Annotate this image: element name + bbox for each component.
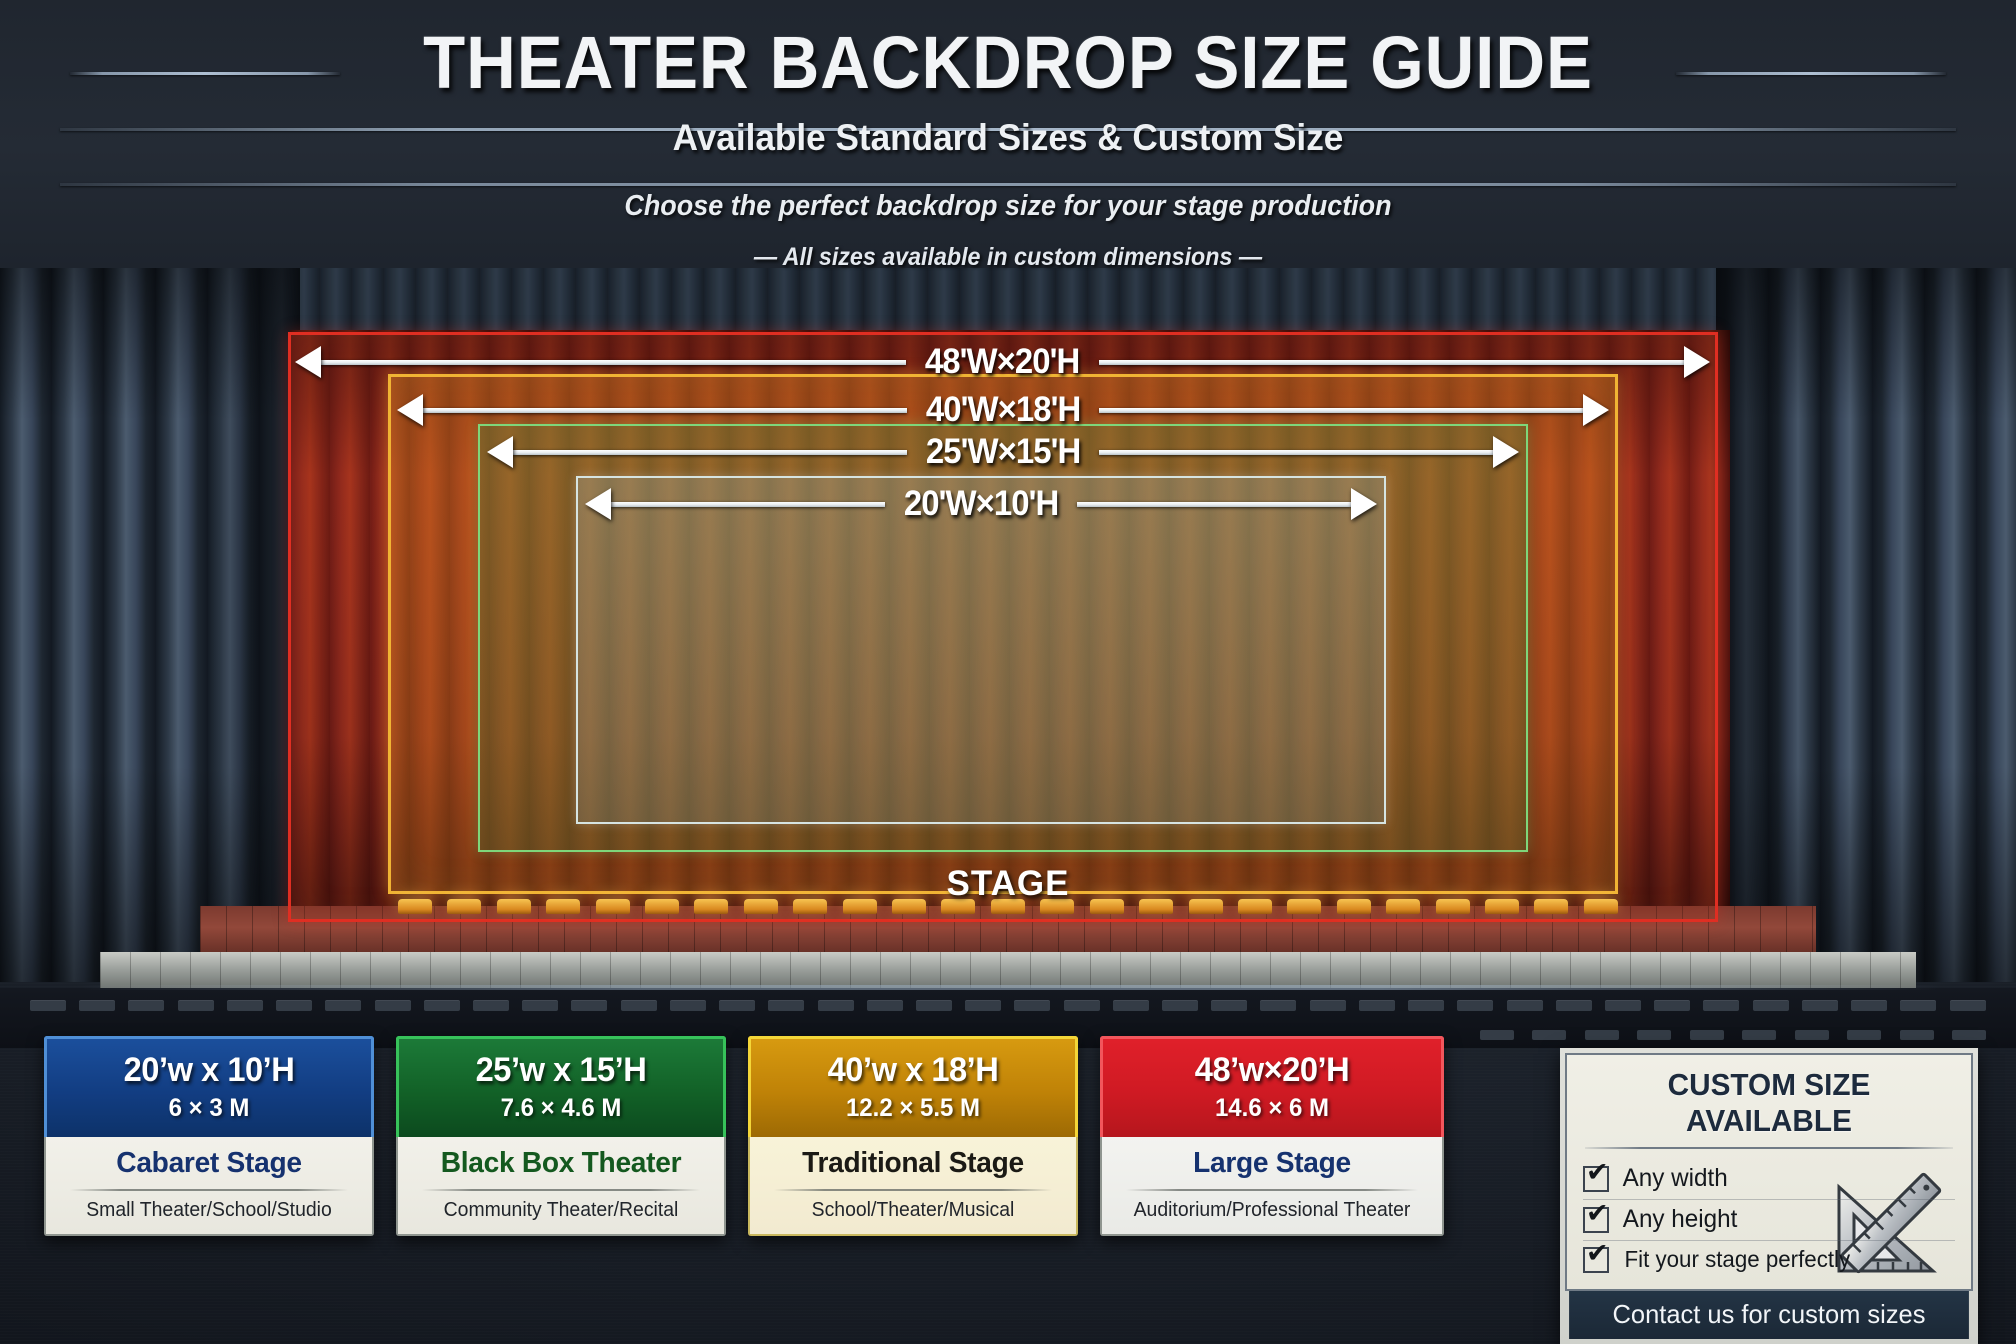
dimension-label-40x18: 40'W×18'H — [913, 390, 1094, 430]
dimension-bar-left — [611, 502, 885, 507]
card-size-metric: 6 × 3 M — [61, 1094, 357, 1123]
dimension-bar-right — [1099, 450, 1493, 455]
arrow-left-icon — [487, 436, 513, 468]
size-card-row: 20’w x 10’H 6 × 3 M Cabaret Stage Small … — [44, 1036, 1444, 1236]
custom-size-cta[interactable]: Contact us for custom sizes — [1569, 1291, 1969, 1339]
house-light-strip — [30, 1000, 1986, 1016]
card-divider — [1126, 1189, 1418, 1191]
card-use-case: Community Theater/Recital — [411, 1199, 712, 1222]
page-title: THEATER BACKDROP SIZE GUIDE — [71, 20, 1946, 105]
card-use-case: Small Theater/School/Studio — [59, 1199, 360, 1222]
card-header: 48’w×20’H 14.6 × 6 M — [1100, 1036, 1444, 1137]
arrow-right-icon — [1351, 488, 1377, 520]
stage-edge-rail — [80, 985, 1940, 990]
card-use-case: Auditorium/Professional Theater — [1115, 1199, 1429, 1222]
dimension-label-20x10: 20'W×10'H — [891, 484, 1072, 524]
arrow-right-icon — [1493, 436, 1519, 468]
arrow-left-icon — [295, 346, 321, 378]
dimension-row-40x18: 40'W×18'H — [397, 388, 1609, 432]
size-frame-20x10 — [576, 476, 1386, 824]
size-card-large-stage[interactable]: 48’w×20’H 14.6 × 6 M Large Stage Auditor… — [1100, 1036, 1444, 1236]
card-body: Black Box Theater Community Theater/Reci… — [396, 1137, 726, 1236]
card-size-imperial: 20’w x 10’H — [61, 1051, 357, 1090]
card-size-metric: 12.2 × 5.5 M — [765, 1094, 1061, 1123]
arrow-left-icon — [397, 394, 423, 426]
checkbox-checked-icon[interactable] — [1583, 1207, 1609, 1233]
dimension-row-20x10: 20'W×10'H — [585, 482, 1377, 526]
card-stage-name: Traditional Stage — [763, 1147, 1064, 1180]
header-rule-lower — [60, 183, 1956, 186]
card-stage-name: Cabaret Stage — [59, 1147, 360, 1180]
card-header: 40’w x 18’H 12.2 × 5.5 M — [748, 1036, 1078, 1137]
card-divider — [422, 1189, 700, 1191]
custom-feature-label: Fit your stage perfectly — [1624, 1246, 1850, 1273]
card-header: 25’w x 15’H 7.6 × 4.6 M — [396, 1036, 726, 1137]
card-body: Traditional Stage School/Theater/Musical — [748, 1137, 1078, 1236]
card-body: Cabaret Stage Small Theater/School/Studi… — [44, 1137, 374, 1236]
card-size-imperial: 48’w×20’H — [1117, 1051, 1426, 1090]
card-size-metric: 14.6 × 6 M — [1117, 1094, 1426, 1123]
page-tagline: Choose the perfect backdrop size for you… — [71, 190, 1946, 223]
card-header: 20’w x 10’H 6 × 3 M — [44, 1036, 374, 1137]
card-size-imperial: 25’w x 15’H — [413, 1051, 709, 1090]
card-use-case: School/Theater/Musical — [763, 1199, 1064, 1222]
dimension-label-25x15: 25'W×15'H — [913, 432, 1094, 472]
dimension-bar-left — [513, 450, 907, 455]
card-divider — [774, 1189, 1052, 1191]
custom-feature-any-width[interactable]: Any width — [1583, 1159, 1955, 1199]
custom-size-divider — [1585, 1147, 1953, 1149]
house-light-strip-secondary — [1480, 1030, 1986, 1044]
card-divider — [70, 1189, 348, 1191]
stage-floor-label: STAGE — [0, 864, 2016, 904]
custom-feature-any-height[interactable]: Any height — [1583, 1199, 1955, 1240]
checkbox-checked-icon[interactable] — [1583, 1247, 1609, 1273]
infographic-poster: 48'W×20'H 40'W×18'H 25'W×15'H 20'W×10'H … — [0, 0, 2016, 1344]
arrow-right-icon — [1684, 346, 1710, 378]
dimension-bar-right — [1099, 360, 1684, 365]
size-card-black-box-theater[interactable]: 25’w x 15’H 7.6 × 4.6 M Black Box Theate… — [396, 1036, 726, 1236]
checkbox-checked-icon[interactable] — [1583, 1166, 1609, 1192]
page-tagline-secondary: — All sizes available in custom dimensio… — [71, 243, 1946, 272]
arrow-right-icon — [1583, 394, 1609, 426]
dimension-label-48x20: 48'W×20'H — [912, 342, 1093, 382]
dimension-bar-right — [1077, 502, 1351, 507]
arrow-left-icon — [585, 488, 611, 520]
dimension-row-25x15: 25'W×15'H — [487, 430, 1519, 474]
custom-feature-label: Any height — [1623, 1205, 1738, 1234]
size-card-cabaret-stage[interactable]: 20’w x 10’H 6 × 3 M Cabaret Stage Small … — [44, 1036, 374, 1236]
custom-size-feature-list: Any width Any height Fit your stage perf… — [1583, 1159, 1955, 1279]
custom-size-panel[interactable]: CUSTOM SIZE AVAILABLE — [1560, 1048, 1978, 1344]
dimension-bar-right — [1099, 408, 1583, 413]
custom-feature-label: Any width — [1623, 1164, 1728, 1193]
card-stage-name: Large Stage — [1115, 1147, 1429, 1180]
poster-header: THEATER BACKDROP SIZE GUIDE Available St… — [0, 0, 2016, 268]
dimension-bar-left — [321, 360, 906, 365]
card-size-metric: 7.6 × 4.6 M — [413, 1094, 709, 1123]
custom-size-title: CUSTOM SIZE AVAILABLE — [1590, 1067, 1947, 1139]
custom-feature-fit-stage[interactable]: Fit your stage perfectly — [1583, 1240, 1955, 1279]
dimension-bar-left — [423, 408, 907, 413]
card-body: Large Stage Auditorium/Professional Thea… — [1100, 1137, 1444, 1236]
dimension-row-48x20: 48'W×20'H — [295, 340, 1710, 384]
size-card-traditional-stage[interactable]: 40’w x 18’H 12.2 × 5.5 M Traditional Sta… — [748, 1036, 1078, 1236]
card-size-imperial: 40’w x 18’H — [765, 1051, 1061, 1090]
page-subtitle: Available Standard Sizes & Custom Size — [50, 117, 1965, 159]
card-stage-name: Black Box Theater — [411, 1147, 712, 1180]
custom-size-inner: CUSTOM SIZE AVAILABLE — [1565, 1053, 1973, 1291]
